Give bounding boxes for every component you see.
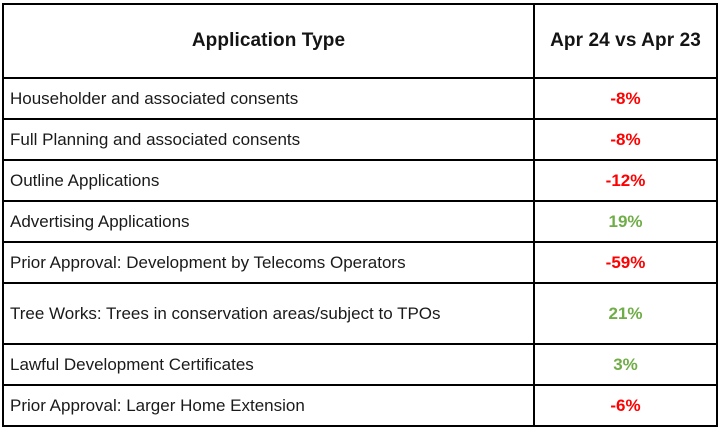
- cell-application-type: Full Planning and associated consents: [3, 119, 534, 160]
- table-row: Outline Applications -12%: [3, 160, 717, 201]
- cell-change-value: -12%: [534, 160, 717, 201]
- cell-application-type: Prior Approval: Larger Home Extension: [3, 385, 534, 426]
- cell-application-type: Prior Approval: Development by Telecoms …: [3, 242, 534, 283]
- column-header-period-comparison: Apr 24 vs Apr 23: [534, 4, 717, 78]
- table-row: Lawful Development Certificates 3%: [3, 344, 717, 385]
- table-row: Householder and associated consents -8%: [3, 78, 717, 119]
- table-row: Prior Approval: Larger Home Extension -6…: [3, 385, 717, 426]
- table-row: Full Planning and associated consents -8…: [3, 119, 717, 160]
- table-row: Tree Works: Trees in conservation areas/…: [3, 283, 717, 344]
- table-row: Prior Approval: Development by Telecoms …: [3, 242, 717, 283]
- cell-application-type: Householder and associated consents: [3, 78, 534, 119]
- table-row: Advertising Applications 19%: [3, 201, 717, 242]
- table-container: Application Type Apr 24 vs Apr 23 Househ…: [0, 0, 722, 416]
- cell-change-value: -59%: [534, 242, 717, 283]
- cell-change-value: -8%: [534, 78, 717, 119]
- table-header: Application Type Apr 24 vs Apr 23: [3, 4, 717, 78]
- cell-change-value: 21%: [534, 283, 717, 344]
- cell-application-type: Tree Works: Trees in conservation areas/…: [3, 283, 534, 344]
- column-header-application-type: Application Type: [3, 4, 534, 78]
- cell-application-type: Outline Applications: [3, 160, 534, 201]
- cell-change-value: -8%: [534, 119, 717, 160]
- application-type-comparison-table: Application Type Apr 24 vs Apr 23 Househ…: [2, 3, 718, 427]
- cell-change-value: 19%: [534, 201, 717, 242]
- cell-application-type: Advertising Applications: [3, 201, 534, 242]
- cell-application-type: Lawful Development Certificates: [3, 344, 534, 385]
- header-row: Application Type Apr 24 vs Apr 23: [3, 4, 717, 78]
- cell-change-value: 3%: [534, 344, 717, 385]
- cell-change-value: -6%: [534, 385, 717, 426]
- table-body: Householder and associated consents -8% …: [3, 78, 717, 426]
